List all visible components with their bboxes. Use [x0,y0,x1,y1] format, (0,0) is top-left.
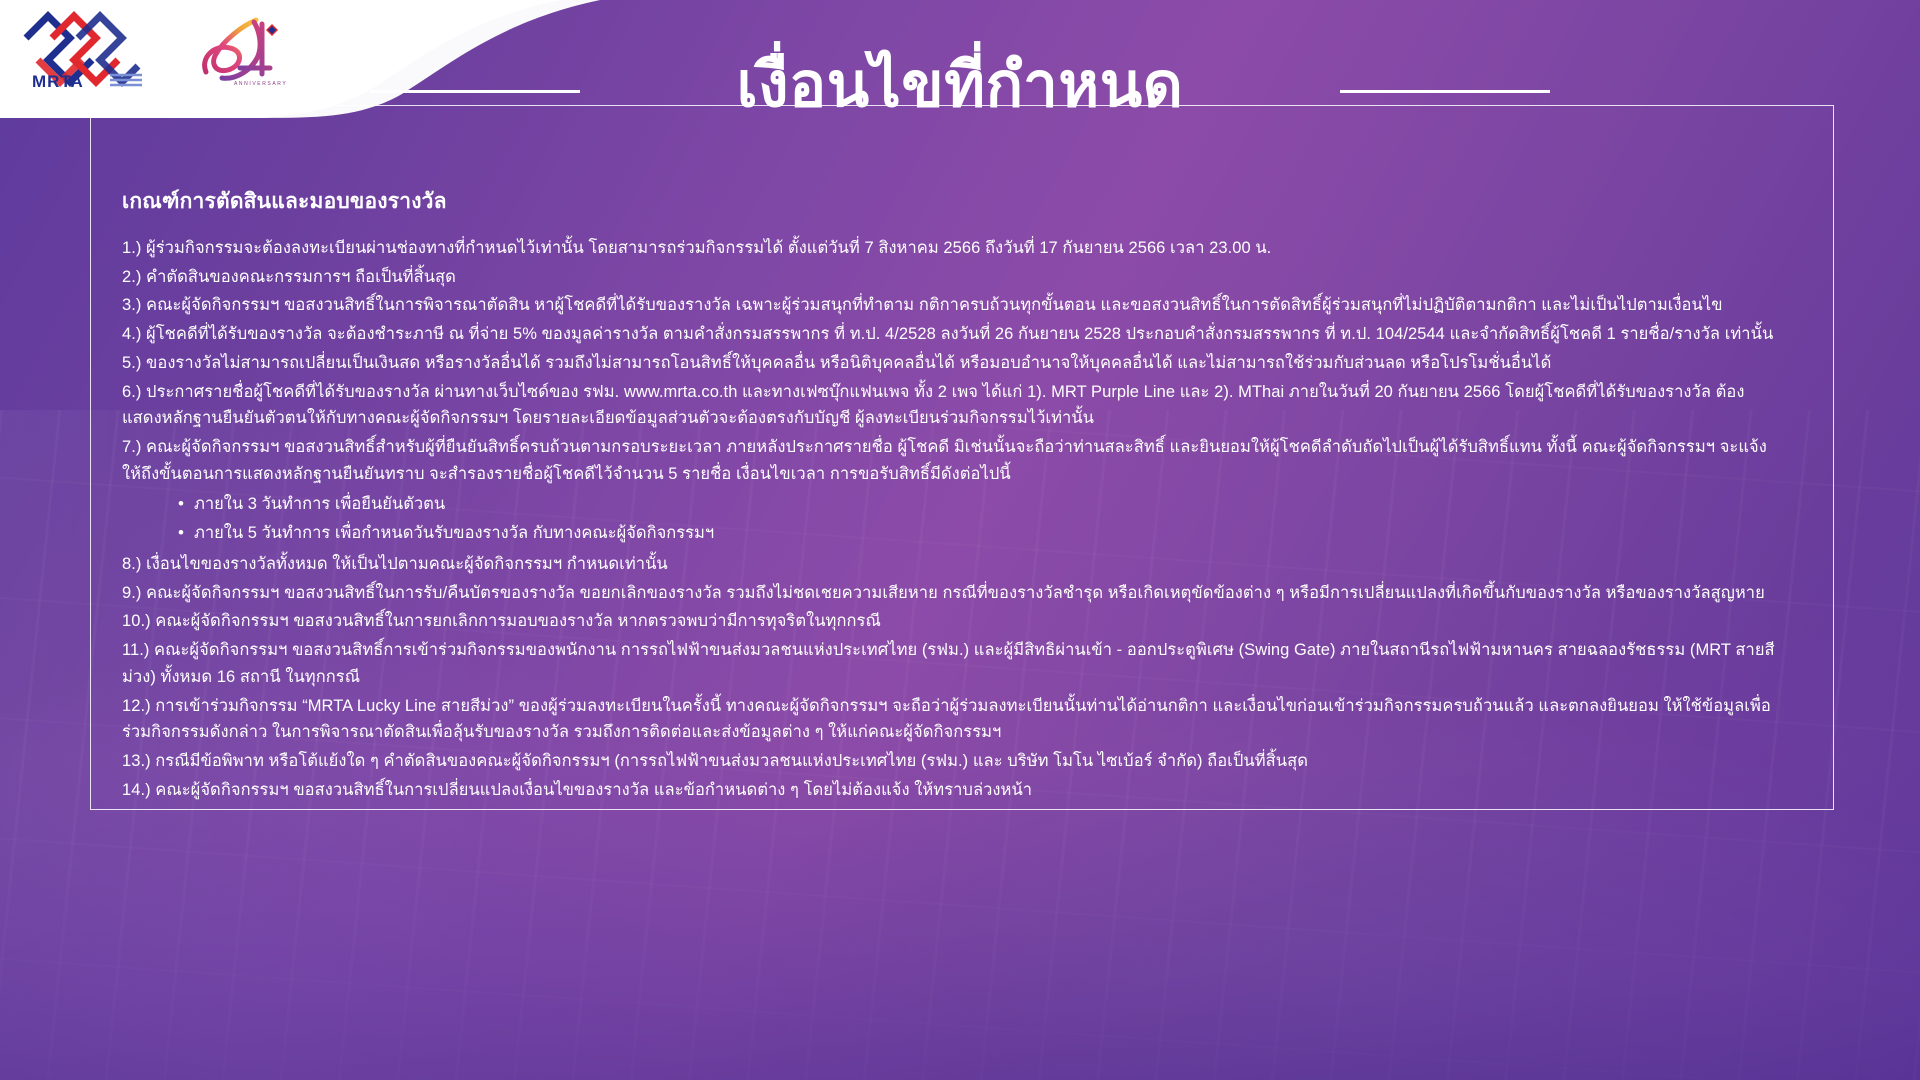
list-item: ภายใน 3 วันทำการ เพื่อยืนยันตัวตน [178,491,1812,518]
clause-8: 8.) เงื่อนไขของรางวัลทั้งหมด ให้เป็นไปตา… [122,551,1782,578]
section-heading: เกณฑ์การตัดสินและมอบของรางวัล [122,185,1812,218]
slide-root: MRTA [0,0,1920,1080]
svg-text:ANNIVERSARY: ANNIVERSARY [234,81,287,87]
list-item: ภายใน 5 วันทำการ เพื่อกำหนดวันรับของรางว… [178,520,1812,547]
clause-5: 5.) ของรางวัลไม่สามารถเปลี่ยนเป็นเงินสด … [122,350,1782,377]
title-rule-right [1340,90,1550,93]
sub-bullet-list: ภายใน 3 วันทำการ เพื่อยืนยันตัวตน ภายใน … [122,491,1812,546]
clause-14: 14.) คณะผู้จัดกิจกรรมฯ ขอสงวนสิทธิ์ในการ… [122,777,1782,804]
clause-2: 2.) คำตัดสินของคณะกรรมการฯ ถือเป็นที่สิ้… [122,264,1782,291]
mrta-logo-icon: MRTA [18,8,146,90]
logo-strip: MRTA [18,8,292,90]
page-title: เงื่อนไขที่กำหนด [737,55,1184,117]
terms-content: เกณฑ์การตัดสินและมอบของรางวัล 1.) ผู้ร่ว… [122,185,1812,805]
clause-1: 1.) ผู้ร่วมกิจกรรมจะต้องลงทะเบียนผ่านช่อ… [122,235,1782,262]
title-rule-left [370,90,580,93]
clause-4: 4.) ผู้โชคดีที่ได้รับของรางวัล จะต้องชำร… [122,321,1782,348]
clause-13: 13.) กรณีมีข้อพิพาท หรือโต้แย้งใด ๆ คำตั… [122,748,1782,775]
clause-12: 12.) การเข้าร่วมกิจกรรม “MRTA Lucky Line… [122,693,1782,746]
clause-3: 3.) คณะผู้จัดกิจกรรมฯ ขอสงวนสิทธิ์ในการพ… [122,292,1782,319]
clause-9: 9.) คณะผู้จัดกิจกรรมฯ ขอสงวนสิทธิ์ในการร… [122,580,1782,607]
anniversary-34-logo-icon: ANNIVERSARY [192,8,292,90]
clause-6: 6.) ประกาศรายชื่อผู้โชคดีที่ได้รับของราง… [122,379,1782,432]
clause-11: 11.) คณะผู้จัดกิจกรรมฯ ขอสงวนสิทธิ์การเข… [122,637,1782,690]
clause-7: 7.) คณะผู้จัดกิจกรรมฯ ขอสงวนสิทธิ์สำหรับ… [122,434,1782,487]
clause-10: 10.) คณะผู้จัดกิจกรรมฯ ขอสงวนสิทธิ์ในการ… [122,608,1782,635]
svg-text:MRTA: MRTA [32,72,84,90]
